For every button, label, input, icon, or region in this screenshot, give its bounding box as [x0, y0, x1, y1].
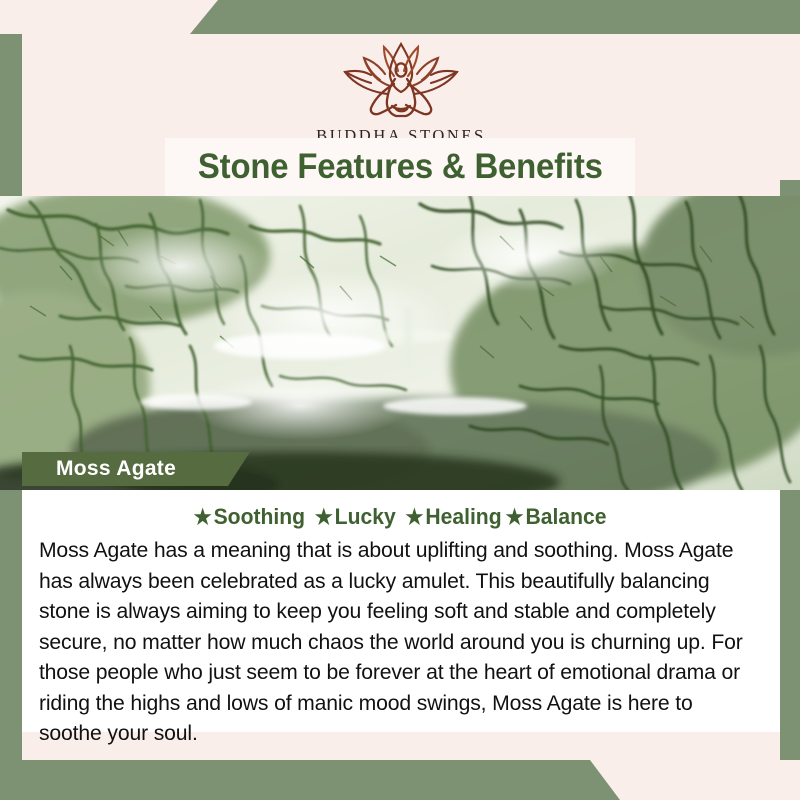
lotus-meditation-figure-icon: [326, 38, 476, 124]
star-icon: ★: [315, 507, 333, 528]
stone-description: Moss Agate has a meaning that is about u…: [35, 535, 756, 749]
stone-info-poster: BUDDHA STONES Stone Features & Benefits: [0, 0, 800, 800]
benefit-label: Lucky: [335, 504, 396, 530]
benefit-label: Balance: [525, 504, 606, 530]
benefit-balance: ★ Balance: [502, 504, 613, 530]
content-panel: ★ Soothing ★ Lucky ★ Healing ★ Balance M…: [22, 490, 780, 732]
star-icon: ★: [194, 507, 212, 528]
stone-name-label: Moss Agate: [22, 457, 176, 481]
page-title: Stone Features & Benefits: [198, 147, 603, 187]
benefit-lucky: ★ Lucky: [311, 504, 402, 530]
bottom-green-decoration: [0, 760, 800, 800]
benefit-label: Soothing: [214, 504, 306, 530]
benefits-row: ★ Soothing ★ Lucky ★ Healing ★ Balance: [50, 504, 753, 530]
star-icon: ★: [505, 507, 523, 528]
benefit-soothing: ★ Soothing: [190, 504, 311, 530]
moss-agate-photo: [0, 196, 800, 490]
star-icon: ★: [405, 507, 423, 528]
stone-name-tag: Moss Agate: [22, 452, 250, 486]
top-green-decoration: [0, 0, 800, 34]
headline-banner: Stone Features & Benefits: [165, 138, 635, 196]
poster-card: BUDDHA STONES Stone Features & Benefits: [22, 34, 780, 760]
benefit-label: Healing: [425, 504, 501, 530]
benefit-healing: ★ Healing: [401, 504, 507, 530]
moss-agate-photo-graphic: [0, 196, 800, 490]
